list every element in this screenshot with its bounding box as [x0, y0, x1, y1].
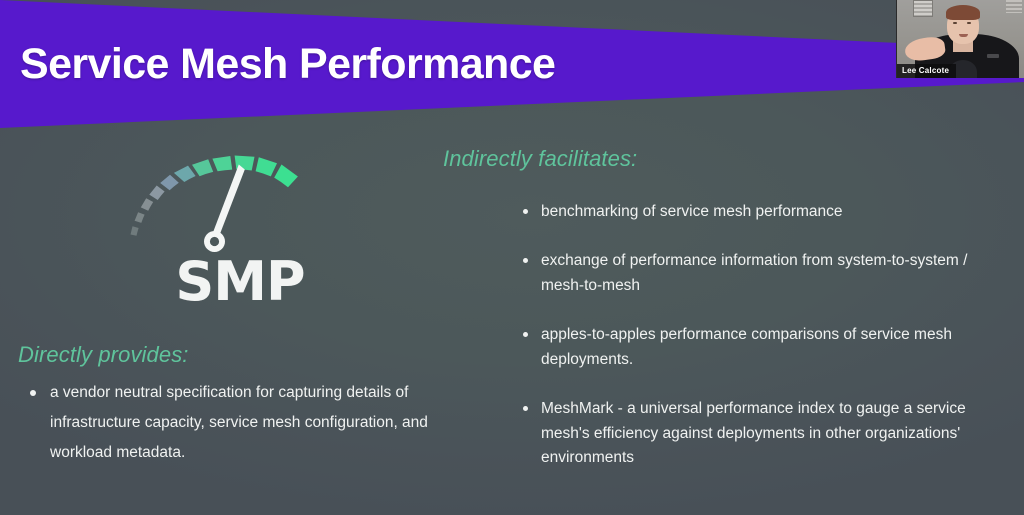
right-column-bullet-list: benchmarking of service mesh performance…	[519, 200, 1009, 471]
gauge-needle	[204, 165, 245, 253]
left-column-bullet-list: a vendor neutral specification for captu…	[28, 378, 448, 467]
presentation-slide: Service Mesh Performance Lee Calcote	[0, 0, 1024, 515]
list-item: benchmarking of service mesh performance	[519, 200, 1009, 224]
gauge-arc-segments	[131, 156, 298, 236]
webcam-video-overlay[interactable]: Lee Calcote	[896, 0, 1024, 78]
window-blind-icon	[913, 0, 933, 17]
speaker-right-eye	[967, 22, 971, 24]
list-item: exchange of performance information from…	[519, 249, 1009, 298]
speaker-left-eye	[953, 22, 957, 24]
smp-wordmark: SMP	[120, 255, 360, 309]
right-column-heading: Indirectly facilitates:	[443, 146, 637, 172]
list-item: apples-to-apples performance comparisons…	[519, 323, 1009, 372]
page-title: Service Mesh Performance	[20, 40, 555, 89]
speaker-hair	[946, 5, 980, 20]
speaker-name-label: Lee Calcote	[897, 64, 956, 78]
list-item: MeshMark - a universal performance index…	[519, 397, 1009, 470]
window-blind-secondary-icon	[1006, 0, 1022, 13]
list-item: a vendor neutral specification for captu…	[28, 378, 448, 467]
shirt-logo	[987, 54, 999, 58]
left-column-heading: Directly provides:	[18, 342, 189, 368]
